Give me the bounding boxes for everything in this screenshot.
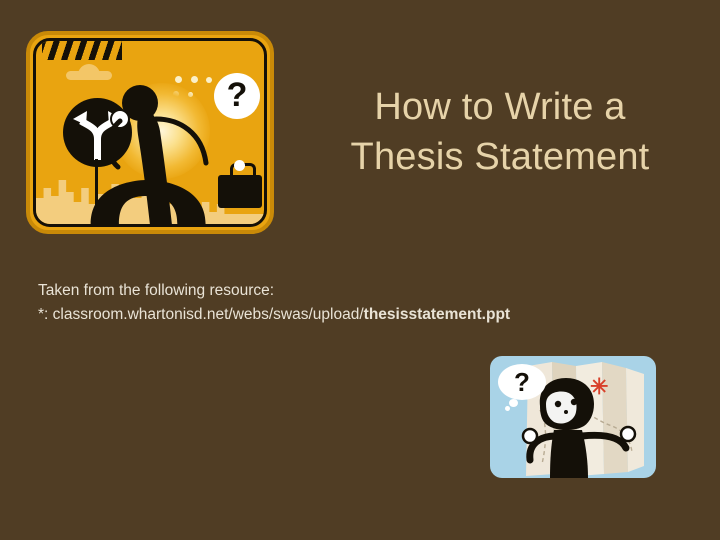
page-title: How to Write a Thesis Statement — [300, 82, 700, 182]
presentation-slide: ? How to Write a Thesis Statement Taken … — [0, 0, 720, 540]
thought-bubble-tail — [509, 399, 518, 407]
traveler-at-crossroads-illustration: ? — [26, 31, 274, 234]
thought-bubble-question-icon: ? — [498, 364, 546, 400]
thought-bubble-tail — [505, 406, 510, 411]
briefcase-knob — [234, 160, 245, 171]
source-url: *: classroom.whartonisd.net/webs/swas/up… — [38, 306, 364, 323]
stick-figure-traveler — [98, 85, 228, 224]
illustration-inner-frame: ? — [33, 38, 267, 227]
source-filename: thesisstatement.ppt — [364, 306, 510, 323]
thought-dot-icon — [206, 77, 212, 83]
person-with-map-illustration: ✳ ? — [490, 356, 656, 478]
thought-dot-icon — [191, 76, 198, 83]
source-attribution: Taken from the following resource: *: cl… — [38, 279, 510, 328]
thought-dot-icon — [175, 76, 182, 83]
thought-bubble-question-icon: ? — [214, 73, 260, 119]
attribution-line-1: Taken from the following resource: — [38, 279, 510, 303]
hazard-stripes-icon — [42, 41, 122, 60]
attribution-line-2: *: classroom.whartonisd.net/webs/swas/up… — [38, 303, 510, 327]
cloud-icon — [66, 71, 112, 80]
briefcase-icon — [218, 175, 262, 208]
